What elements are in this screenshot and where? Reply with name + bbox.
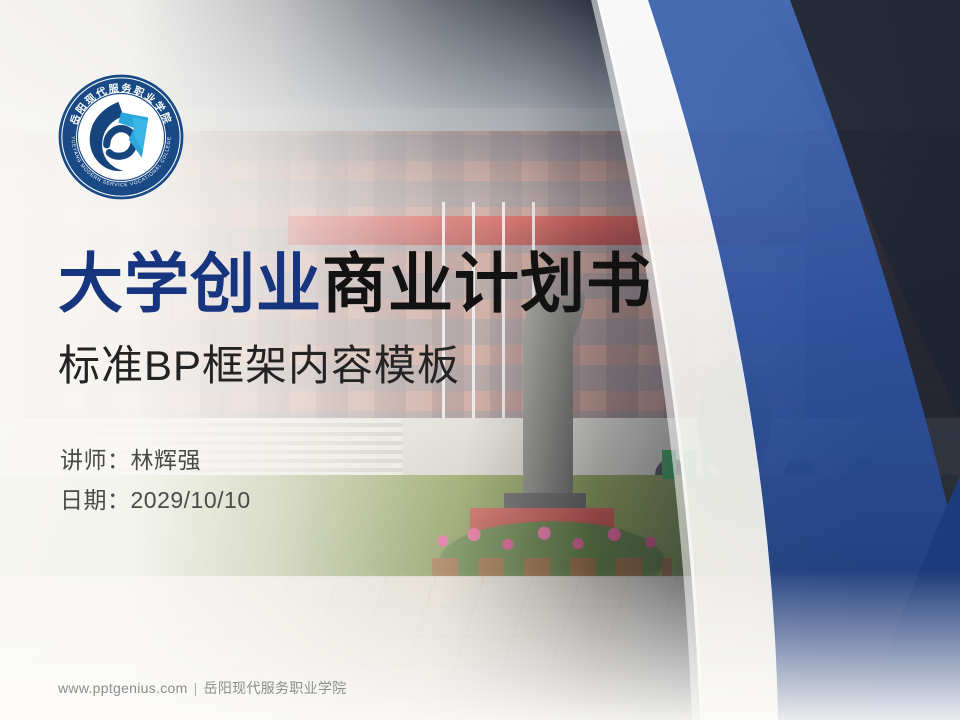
date-label: 日期：	[60, 487, 131, 513]
footer-organization: 岳阳现代服务职业学院	[204, 680, 347, 696]
title-block: 大学创业商业计划书 标准BP框架内容模板	[58, 250, 758, 393]
subtitle: 标准BP框架内容模板	[58, 332, 758, 393]
college-logo: 岳阳现代服务职业学院 YUEYANG MODERN SERVICE VOCATI…	[56, 72, 186, 202]
presenter-label: 讲师：	[60, 447, 131, 473]
main-title: 大学创业商业计划书	[58, 250, 758, 318]
presenter-value: 林辉强	[131, 447, 202, 473]
main-title-blue-part: 大学创业	[58, 247, 322, 320]
presentation-slide: 岳阳现代服务职业学院 YUEYANG MODERN SERVICE VOCATI…	[0, 0, 960, 720]
college-seal-icon: 岳阳现代服务职业学院 YUEYANG MODERN SERVICE VOCATI…	[56, 72, 186, 202]
footer: www.pptgenius.com|岳阳现代服务职业学院	[58, 678, 347, 698]
footer-separator: |	[194, 680, 198, 696]
date-row: 日期：2029/10/10	[60, 480, 251, 520]
main-title-dark-part: 商业计划书	[322, 247, 652, 320]
date-value: 2029/10/10	[131, 487, 251, 513]
meta-block: 讲师：林辉强 日期：2029/10/10	[60, 440, 251, 521]
footer-website[interactable]: www.pptgenius.com	[58, 680, 188, 696]
presenter-row: 讲师：林辉强	[60, 440, 251, 480]
